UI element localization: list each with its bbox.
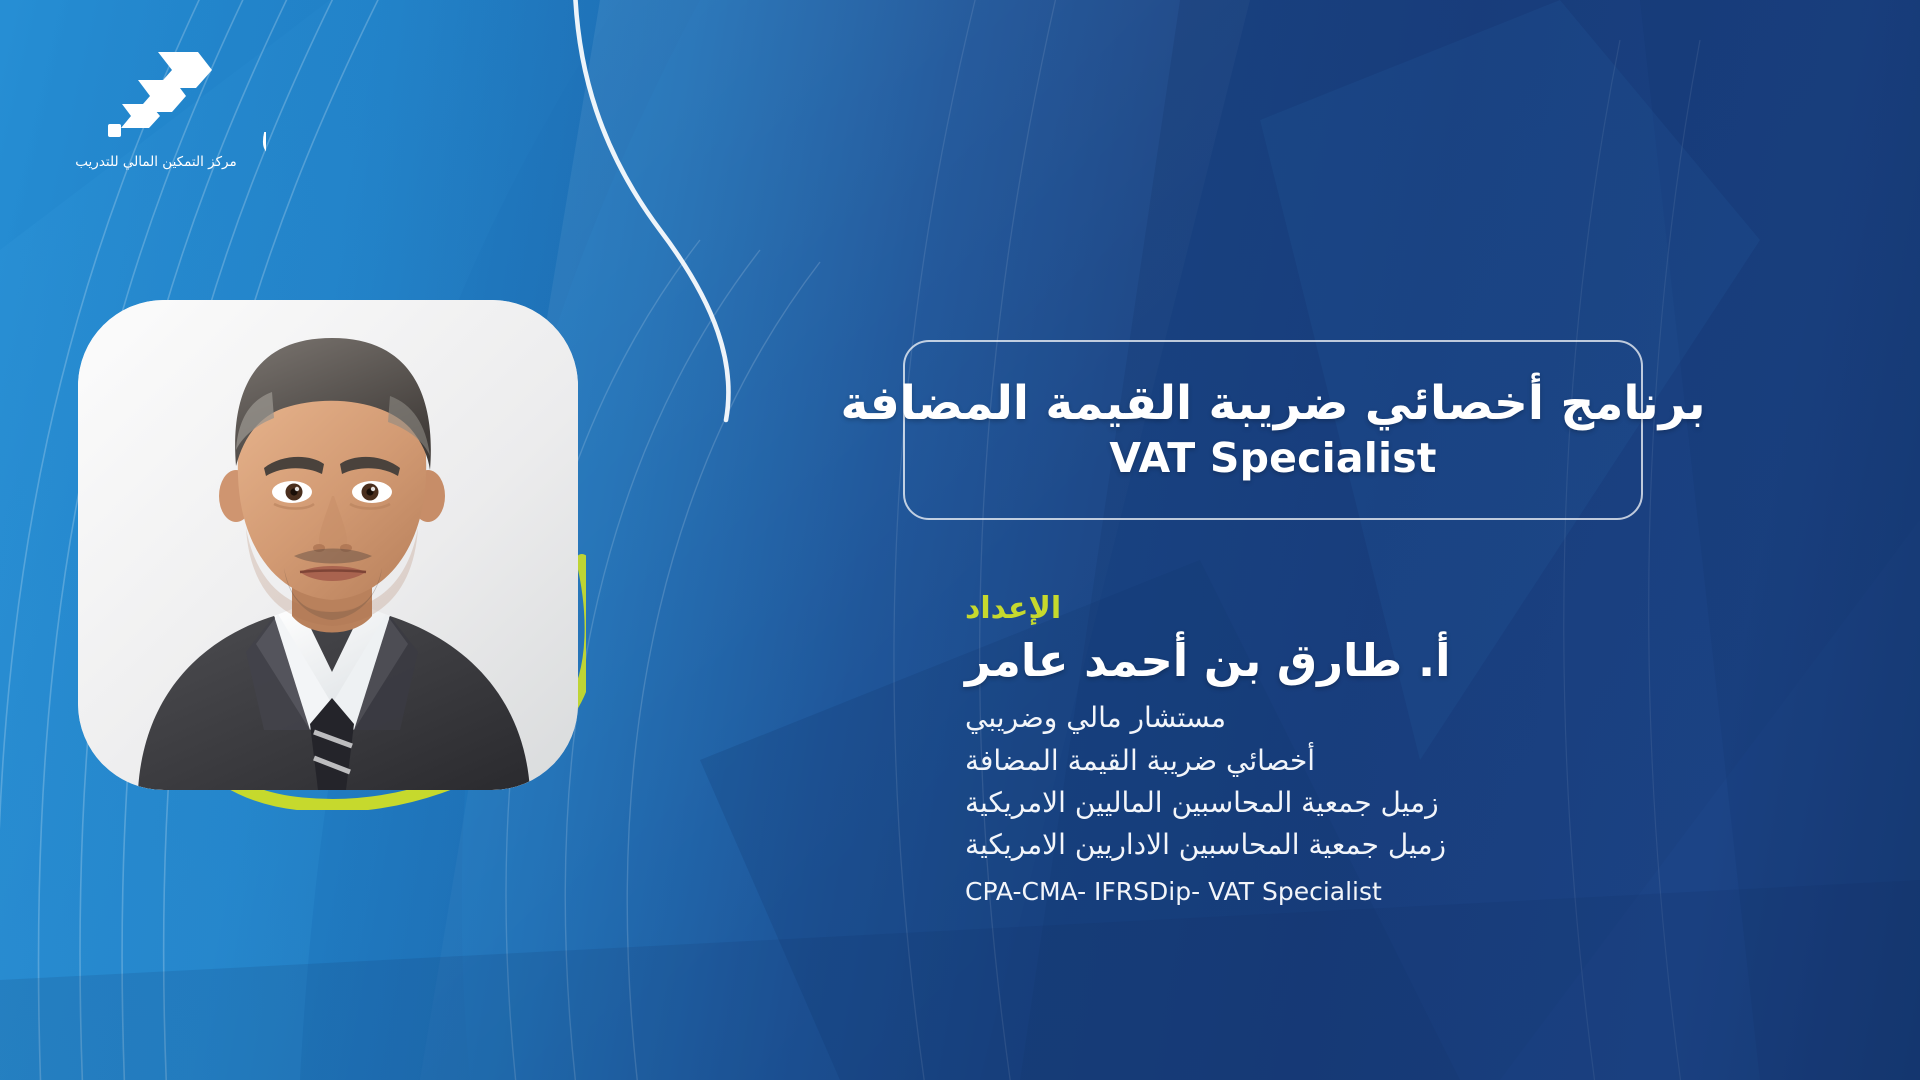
logo-mark: تمكين xyxy=(46,36,266,160)
presenter-portrait-illustration xyxy=(78,300,578,790)
page-title: برنامج أخصائي ضريبة القيمة المضافة xyxy=(840,377,1705,431)
slide-canvas: تمكين مركز التمكين المالي للتدريب xyxy=(0,0,1920,1080)
program-title-card: برنامج أخصائي ضريبة القيمة المضافة VAT S… xyxy=(903,340,1643,520)
presenter-photo-block xyxy=(78,300,578,790)
page-title-english: VAT Specialist xyxy=(1109,435,1436,482)
presenter-name: أ. طارق بن أحمد عامر xyxy=(965,634,1865,689)
avatar xyxy=(78,300,578,790)
logo-tagline: مركز التمكين المالي للتدريب xyxy=(46,154,266,170)
list-item: مستشار مالي وضريبي xyxy=(965,698,1865,738)
presenter-label: الإعداد xyxy=(965,590,1865,628)
presenter-credentials: مستشار مالي وضريبي أخصائي ضريبة القيمة ا… xyxy=(965,698,1865,909)
list-item: أخصائي ضريبة القيمة المضافة xyxy=(965,741,1865,781)
list-item: زميل جمعية المحاسبين الاداريين الامريكية xyxy=(965,825,1865,865)
presenter-block: الإعداد أ. طارق بن أحمد عامر مستشار مالي… xyxy=(965,590,1865,912)
ascending-arrow-blocks-icon xyxy=(108,52,212,137)
logo-wordmark: تمكين xyxy=(259,84,266,158)
brand-logo[interactable]: تمكين مركز التمكين المالي للتدريب xyxy=(46,36,266,186)
presenter-certifications: CPA-CMA- IFRSDip- VAT Specialist xyxy=(965,874,1865,910)
list-item: زميل جمعية المحاسبين الماليين الامريكية xyxy=(965,783,1865,823)
